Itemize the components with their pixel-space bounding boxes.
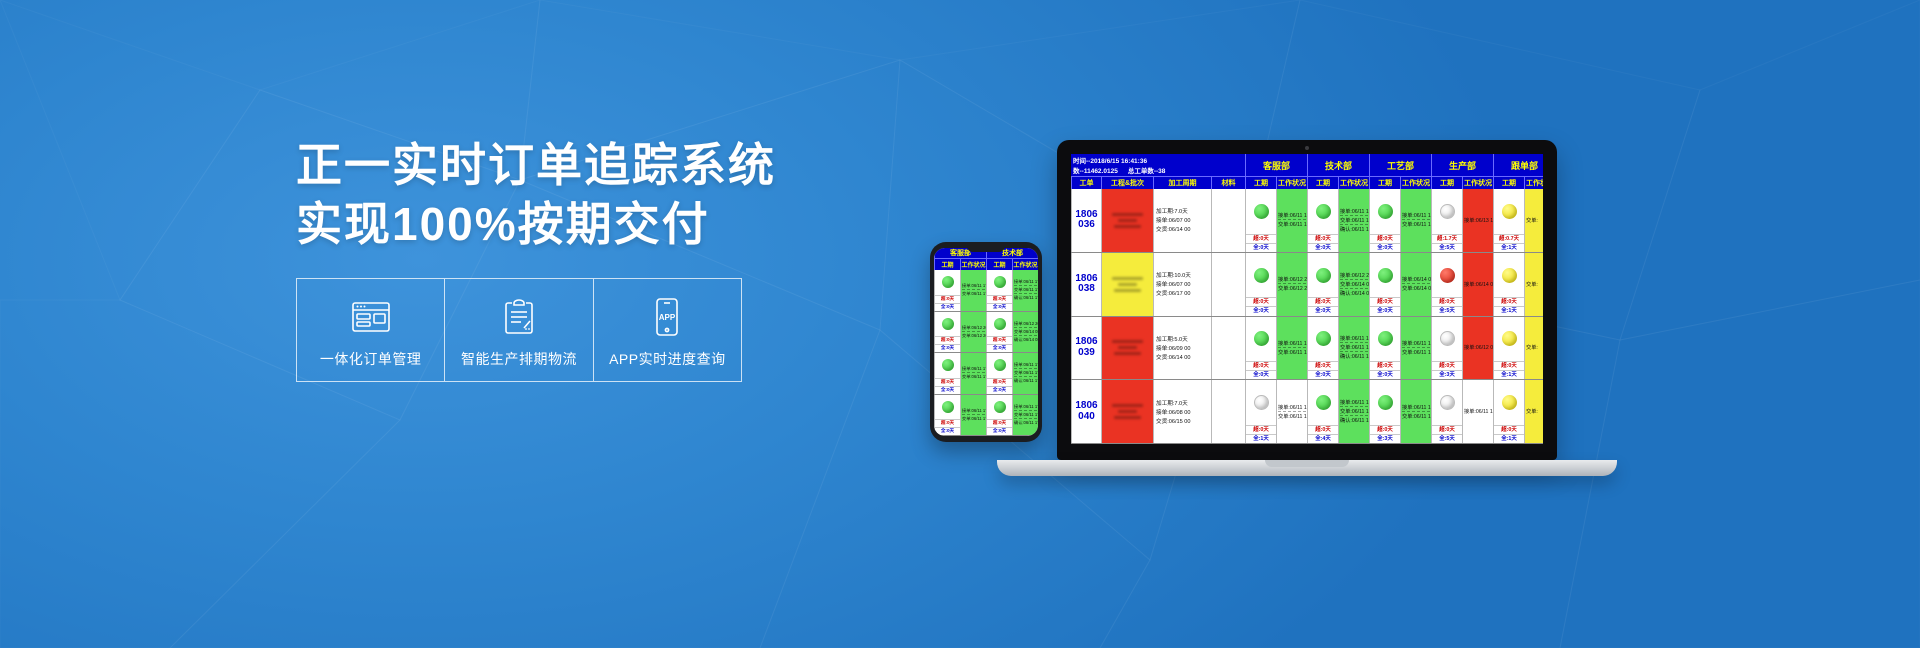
order-number-cell: 1806038: [1071, 253, 1101, 316]
work-status-line-1: 接单:06/11 17: [1340, 399, 1368, 407]
work-status-line-1: 接单:06/11 17: [1278, 340, 1306, 348]
phone-status-cell-1[interactable]: 超:0天全:0天: [934, 270, 960, 311]
remaining-days-label: 全:0天: [1370, 243, 1400, 252]
remaining-days-label: 全:0天: [1308, 306, 1338, 315]
material-cell: [1211, 189, 1245, 252]
remaining-days-label: 全:1天: [1246, 434, 1276, 443]
work-status-line-3: 确认:06/14 08: [1340, 290, 1368, 297]
remaining-days-label: 全:4天: [1308, 434, 1338, 443]
remaining-days-label: 全:0天: [987, 344, 1012, 352]
overdue-days-label: 超:0天: [1370, 234, 1400, 243]
phone-table-row[interactable]: 超:0天全:0天接单:06/11 17交单:06/11 17超:0天全:0天接单…: [934, 270, 1038, 312]
overdue-days-label: 超:0天: [935, 378, 960, 386]
remaining-days-label: 全:1天: [1494, 434, 1524, 443]
overdue-days-label: 超:0.7天: [1494, 234, 1524, 243]
status-cell-工艺部[interactable]: 超:0天全:0天: [1369, 317, 1400, 380]
phone-work-status-cell-1[interactable]: 接单:06/11 17交单:06/11 17: [960, 395, 986, 436]
dashboard-meta: 时间--2018/6/15 16:41:36数--11462.0125总工单数-…: [1071, 154, 1245, 176]
processing-cycle-cell: 加工期:10.0天接单:06/07 00交货:06/17 00: [1153, 253, 1211, 316]
phone-work-status-cell-2[interactable]: 接单:06/11 17交单:06/11 17确认:06/11 17: [1012, 270, 1038, 311]
status-indicator-icon: [994, 318, 1006, 330]
remaining-days-label: 全:3天: [1432, 370, 1462, 379]
processing-cycle-cell: 加工期:5.0天接单:06/09 00交货:06/14 00: [1153, 317, 1211, 380]
order-number-part-2: 038: [1078, 284, 1095, 295]
phone-status-cell-1[interactable]: 超:0天全:0天: [934, 312, 960, 353]
processing-cycle-cell: 加工期:7.0天接单:06/07 00交货:06/14 00: [1153, 189, 1211, 252]
status-cell-生产部[interactable]: 超:0天全:5天: [1431, 380, 1462, 443]
remaining-days-label: 全:0天: [1246, 243, 1276, 252]
cycle-line-3: 交货:06/14 00: [1156, 225, 1209, 233]
work-status-line-2: 交单:06/11 17: [1278, 221, 1306, 228]
work-status-line-2: 交单:06/11 17: [1340, 344, 1368, 352]
project-batch-cell: [1101, 253, 1153, 316]
work-status-line-2: 交单:06/11 17: [1402, 349, 1430, 356]
status-cell-工艺部[interactable]: 超:0天全:3天: [1369, 380, 1400, 443]
department-header-2[interactable]: 技术部: [1307, 154, 1369, 176]
dashboard-rows: 1806036加工期:7.0天接单:06/07 00交货:06/14 00超:0…: [1071, 189, 1543, 444]
overdue-days-label: 超:0天: [1370, 361, 1400, 370]
column-header-工艺部-工作状况[interactable]: 工作状况: [1400, 176, 1431, 189]
status-indicator-icon: [994, 276, 1006, 288]
remaining-days-label: 全:0天: [987, 427, 1012, 435]
phone-status-cell-2[interactable]: 超:0天全:0天: [986, 395, 1012, 436]
phone-status-cell-2[interactable]: 超:0天全:0天: [986, 312, 1012, 353]
work-status-line-2: 交单:06/11 17: [1014, 287, 1037, 294]
overdue-days-label: 超:0天: [1308, 297, 1338, 306]
work-status-line-2: 交单:06/11 17: [962, 374, 985, 380]
status-cell-生产部[interactable]: 超:0天全:3天: [1431, 317, 1462, 380]
status-indicator-icon: [1378, 395, 1393, 410]
overdue-days-label: 超:0天: [1432, 297, 1462, 306]
status-indicator-icon: [994, 359, 1006, 371]
work-status-line-1: 接单:06/11 17: [962, 366, 985, 373]
work-status-line-2: 交单:06/11 17: [1014, 370, 1037, 377]
laptop-screen[interactable]: 时间--2018/6/15 16:41:36数--11462.0125总工单数-…: [1071, 154, 1543, 444]
work-status-line-1: 交单:: [1526, 408, 1543, 415]
status-indicator-icon: [1440, 395, 1455, 410]
column-header-客服部-工作状况[interactable]: 工作状况: [1276, 176, 1307, 189]
work-status-line-1: 接单:06/11 17: [1014, 279, 1037, 286]
work-status-cell-跟单部[interactable]: 交单:: [1524, 317, 1543, 380]
laptop-base-notch: [1265, 460, 1349, 467]
work-status-cell-生产部[interactable]: 接单:06/13 10: [1462, 189, 1493, 252]
work-status-line-1: 接单:06/11 17: [1402, 404, 1430, 412]
column-header-跟单部-工作状况[interactable]: 工作状况: [1524, 176, 1543, 189]
overdue-days-label: 超:0天: [935, 295, 960, 303]
status-indicator-icon: [994, 401, 1006, 413]
work-status-line-1: 接单:06/12 20: [962, 325, 985, 332]
status-indicator-icon: [1378, 204, 1393, 219]
column-header-跟单部-工期[interactable]: 工期: [1493, 176, 1524, 189]
work-status-line-2: 交单:06/14 08: [1014, 329, 1037, 336]
cycle-line-2: 接单:06/09 00: [1156, 344, 1209, 352]
column-header-工单[interactable]: 工单: [1071, 176, 1101, 189]
work-status-line-1: 接单:06/14 08: [1464, 281, 1492, 288]
table-row[interactable]: 1806036加工期:7.0天接单:06/07 00交货:06/14 00超:0…: [1071, 189, 1543, 253]
work-status-line-1: 交单:: [1526, 281, 1543, 288]
status-cell-技术部[interactable]: 超:0天全:0天: [1307, 253, 1338, 316]
status-indicator-icon: [1316, 204, 1331, 219]
remaining-days-label: 全:0天: [1308, 243, 1338, 252]
work-status-line-1: 接单:06/12 20: [1340, 272, 1368, 280]
work-status-line-1: 交单:: [1526, 344, 1543, 351]
status-indicator-icon: [1254, 331, 1269, 346]
order-number-cell: 1806036: [1071, 189, 1101, 252]
overdue-days-label: 超:0天: [935, 336, 960, 344]
cycle-line-2: 接单:06/07 00: [1156, 280, 1209, 288]
phone-work-status-cell-1[interactable]: 接单:06/12 20交单:06/12 20: [960, 312, 986, 353]
phone-column-header-row: 工期工作状况工期工作状况: [934, 258, 1038, 270]
cycle-line-2: 接单:06/07 00: [1156, 216, 1209, 224]
work-status-line-1: 接单:06/11 17: [1278, 212, 1306, 220]
status-indicator-icon: [1316, 268, 1331, 283]
work-status-line-1: 接单:06/14 08: [1402, 276, 1430, 284]
status-cell-客服部[interactable]: 超:0天全:1天: [1245, 380, 1276, 443]
work-status-cell-生产部[interactable]: 接单:06/12 09: [1462, 317, 1493, 380]
work-status-cell-跟单部[interactable]: 交单:: [1524, 380, 1543, 443]
status-indicator-icon: [1378, 331, 1393, 346]
status-cell-工艺部[interactable]: 超:0天全:0天: [1369, 253, 1400, 316]
total-orders-label: 总工单数--38: [1128, 165, 1166, 175]
phone-dashboard-rows: 超:0天全:0天接单:06/11 17交单:06/11 17超:0天全:0天接单…: [934, 270, 1038, 436]
overdue-days-label: 超:1.7天: [1432, 234, 1462, 243]
webcam-icon: [1305, 146, 1309, 150]
overdue-days-label: 超:0天: [935, 419, 960, 427]
work-status-line-3: 确认:06/11 17: [1014, 378, 1037, 384]
status-cell-生产部[interactable]: 超:0天全:5天: [1431, 253, 1462, 316]
status-indicator-icon: [942, 276, 954, 288]
column-header-row: 工单工程&批次加工周期材料工期工作状况工期工作状况工期工作状况工期工作状况工期工…: [1071, 176, 1543, 189]
phone-dashboard: 客服部技术部工期工作状况工期工作状况超:0天全:0天接单:06/11 17交单:…: [934, 248, 1038, 436]
status-indicator-icon: [1254, 204, 1269, 219]
department-header-1[interactable]: 客服部: [1245, 154, 1307, 176]
work-status-cell-工艺部[interactable]: 接单:06/11 17交单:06/11 17: [1400, 317, 1431, 380]
status-cell-跟单部[interactable]: 超:0天全:1天: [1493, 317, 1524, 380]
overdue-days-label: 超:0天: [1432, 425, 1462, 434]
redacted-project-text: [1106, 384, 1149, 439]
work-status-line-1: 交单:: [1526, 217, 1543, 224]
work-status-cell-工艺部[interactable]: 接单:06/14 08交单:06/14 08: [1400, 253, 1431, 316]
remaining-days-label: 全:0天: [1246, 370, 1276, 379]
phone-status-cell-2[interactable]: 超:0天全:0天: [986, 353, 1012, 394]
overdue-days-label: 超:0天: [987, 419, 1012, 427]
status-indicator-icon: [1440, 268, 1455, 283]
overdue-days-label: 超:0天: [987, 378, 1012, 386]
laptop-mockup: 时间--2018/6/15 16:41:36数--11462.0125总工单数-…: [1057, 140, 1557, 476]
work-status-cell-客服部[interactable]: 接单:06/11 17交单:06/11 17: [1276, 317, 1307, 380]
work-status-cell-技术部[interactable]: 接单:06/11 17交单:06/11 17确认:06/11 17: [1338, 189, 1369, 252]
department-header-4[interactable]: 生产部: [1431, 154, 1493, 176]
phone-work-status-cell-2[interactable]: 接单:06/11 17交单:06/11 17确认:06/11 17: [1012, 353, 1038, 394]
work-status-line-2: 交单:06/12 20: [1278, 285, 1306, 292]
status-cell-跟单部[interactable]: 超:0.7天全:1天: [1493, 189, 1524, 252]
remaining-days-label: 全:5天: [1432, 243, 1462, 252]
status-cell-技术部[interactable]: 超:0天全:0天: [1307, 317, 1338, 380]
remaining-days-label: 全:0天: [1308, 370, 1338, 379]
status-cell-跟单部[interactable]: 超:0天全:1天: [1493, 253, 1524, 316]
overdue-days-label: 超:0天: [1494, 361, 1524, 370]
work-status-cell-生产部[interactable]: 接单:06/11 17: [1462, 380, 1493, 443]
column-header-生产部-工期[interactable]: 工期: [1431, 176, 1462, 189]
project-batch-cell: [1101, 317, 1153, 380]
work-status-line-1: 接单:06/11 17: [1278, 404, 1306, 412]
phone-work-status-cell-1[interactable]: 接单:06/11 17交单:06/11 17: [960, 353, 986, 394]
work-status-line-2: 交单:06/11 17: [1402, 413, 1430, 420]
material-cell: [1211, 253, 1245, 316]
cycle-line-3: 交货:06/15 00: [1156, 417, 1209, 425]
work-status-line-1: 接单:06/11 17: [1014, 362, 1037, 369]
processing-cycle-cell: 加工期:7.0天接单:06/08 00交货:06/15 00: [1153, 380, 1211, 443]
cycle-line-3: 交货:06/17 00: [1156, 289, 1209, 297]
column-header-材料[interactable]: 材料: [1211, 176, 1245, 189]
remaining-days-label: 全:1天: [1494, 306, 1524, 315]
work-status-line-1: 接单:06/11 17: [1014, 404, 1037, 411]
project-batch-cell: [1101, 189, 1153, 252]
status-indicator-icon: [1378, 268, 1393, 283]
status-indicator-icon: [942, 401, 954, 413]
work-status-cell-技术部[interactable]: 接单:06/12 20交单:06/14 08确认:06/14 08: [1338, 253, 1369, 316]
project-batch-cell: [1101, 380, 1153, 443]
overdue-days-label: 超:0天: [1246, 234, 1276, 243]
overdue-days-label: 超:0天: [1246, 425, 1276, 434]
work-status-line-2: 交单:06/11 17: [1278, 413, 1306, 420]
overdue-days-label: 超:0天: [987, 336, 1012, 344]
phone-table-row[interactable]: 超:0天全:0天接单:06/11 17交单:06/11 17超:0天全:0天接单…: [934, 353, 1038, 395]
redacted-project-text: [1106, 257, 1149, 312]
work-status-line-2: 交单:06/11 17: [1278, 349, 1306, 356]
work-status-line-3: 确认:06/11 17: [1340, 353, 1368, 360]
remaining-days-label: 全:0天: [1370, 370, 1400, 379]
phone-table-row[interactable]: 超:0天全:0天接单:06/11 17交单:06/11 17超:0天全:0天接单…: [934, 395, 1038, 437]
device-mockups: 客服部技术部工期工作状况工期工作状况超:0天全:0天接单:06/11 17交单:…: [0, 0, 1920, 648]
phone-status-cell-1[interactable]: 超:0天全:0天: [934, 395, 960, 436]
cycle-line-2: 接单:06/08 00: [1156, 408, 1209, 416]
status-indicator-icon: [1254, 268, 1269, 283]
cycle-line-3: 交货:06/14 00: [1156, 353, 1209, 361]
work-status-line-3: 确认:06/14 08: [1014, 337, 1037, 343]
phone-column-header-客服部-工期[interactable]: 工期: [934, 258, 960, 270]
column-header-工程&批次[interactable]: 工程&批次: [1101, 176, 1153, 189]
work-status-cell-工艺部[interactable]: 接单:06/11 17交单:06/11 17: [1400, 380, 1431, 443]
work-status-cell-客服部[interactable]: 接单:06/11 17交单:06/11 17: [1276, 380, 1307, 443]
work-status-cell-客服部[interactable]: 接单:06/12 20交单:06/12 20: [1276, 253, 1307, 316]
order-number-cell: 1806040: [1071, 380, 1101, 443]
column-header-工艺部-工期[interactable]: 工期: [1369, 176, 1400, 189]
phone-table-row[interactable]: 超:0天全:0天接单:06/12 20交单:06/12 20超:0天全:0天接单…: [934, 312, 1038, 354]
work-status-line-2: 交单:06/11 17: [1402, 221, 1430, 228]
phone-column-header-技术部-工作状况[interactable]: 工作状况: [1012, 258, 1038, 270]
phone-column-header-技术部-工期[interactable]: 工期: [986, 258, 1012, 270]
phone-notch: [967, 246, 1005, 252]
table-row[interactable]: 1806039加工期:5.0天接单:06/09 00交货:06/14 00超:0…: [1071, 317, 1543, 381]
phone-work-status-cell-1[interactable]: 接单:06/11 17交单:06/11 17: [960, 270, 986, 311]
dashboard-header-strip: 时间--2018/6/15 16:41:36数--11462.0125总工单数-…: [1071, 154, 1543, 176]
status-cell-客服部[interactable]: 超:0天全:0天: [1245, 317, 1276, 380]
remaining-days-label: 全:0天: [987, 303, 1012, 311]
laptop-base: [997, 460, 1617, 476]
material-cell: [1211, 380, 1245, 443]
cycle-line-1: 加工期:5.0天: [1156, 335, 1209, 343]
phone-work-status-cell-2[interactable]: 接单:06/12 20交单:06/14 08确认:06/14 08: [1012, 312, 1038, 353]
order-tracking-dashboard: 时间--2018/6/15 16:41:36数--11462.0125总工单数-…: [1071, 154, 1543, 444]
overdue-days-label: 超:0天: [1308, 425, 1338, 434]
status-indicator-icon: [1440, 331, 1455, 346]
remaining-days-label: 全:5天: [1432, 434, 1462, 443]
status-indicator-icon: [942, 359, 954, 371]
work-status-line-2: 交单:06/11 17: [962, 416, 985, 422]
work-status-line-2: 交单:06/12 20: [962, 333, 985, 339]
work-status-line-2: 交单:06/11 17: [962, 291, 985, 297]
status-indicator-icon: [1440, 204, 1455, 219]
overdue-days-label: 超:0天: [1494, 425, 1524, 434]
work-status-line-1: 接单:06/11 17: [962, 283, 985, 290]
status-cell-客服部[interactable]: 超:0天全:0天: [1245, 189, 1276, 252]
work-status-line-1: 接单:06/13 10: [1464, 217, 1492, 224]
phone-status-cell-2[interactable]: 超:0天全:0天: [986, 270, 1012, 311]
status-indicator-icon: [1502, 395, 1517, 410]
overdue-days-label: 超:0天: [987, 295, 1012, 303]
work-status-line-1: 接单:06/12 20: [1014, 321, 1037, 328]
work-status-line-2: 交单:06/14 08: [1402, 285, 1430, 292]
status-indicator-icon: [1502, 268, 1517, 283]
order-number-cell: 1806039: [1071, 317, 1101, 380]
remaining-days-label: 全:1天: [1494, 370, 1524, 379]
serial-label: 数--11462.0125: [1073, 165, 1118, 175]
work-status-line-2: 交单:06/11 17: [1340, 408, 1368, 416]
table-row[interactable]: 1806040加工期:7.0天接单:06/08 00交货:06/15 00超:0…: [1071, 380, 1543, 444]
cycle-line-1: 加工期:7.0天: [1156, 207, 1209, 215]
table-row[interactable]: 1806038加工期:10.0天接单:06/07 00交货:06/17 00超:…: [1071, 253, 1543, 317]
work-status-cell-技术部[interactable]: 接单:06/11 17交单:06/11 17确认:06/11 17: [1338, 380, 1369, 443]
status-indicator-icon: [1254, 395, 1269, 410]
work-status-line-1: 接单:06/11 17: [962, 408, 985, 415]
work-status-line-1: 接单:06/11 17: [1402, 340, 1430, 348]
overdue-days-label: 超:0天: [1494, 297, 1524, 306]
column-header-技术部-工作状况[interactable]: 工作状况: [1338, 176, 1369, 189]
work-status-cell-生产部[interactable]: 接单:06/14 08: [1462, 253, 1493, 316]
work-status-line-1: 接单:06/12 09: [1464, 344, 1492, 351]
order-number-part-2: 040: [1078, 412, 1095, 423]
work-status-line-2: 交单:06/11 17: [1014, 412, 1037, 419]
remaining-days-label: 全:1天: [1494, 243, 1524, 252]
overdue-days-label: 超:0天: [1246, 361, 1276, 370]
remaining-days-label: 全:0天: [1370, 306, 1400, 315]
laptop-lid: 时间--2018/6/15 16:41:36数--11462.0125总工单数-…: [1057, 140, 1557, 460]
phone-status-cell-1[interactable]: 超:0天全:0天: [934, 353, 960, 394]
work-status-cell-客服部[interactable]: 接单:06/11 17交单:06/11 17: [1276, 189, 1307, 252]
status-indicator-icon: [1316, 331, 1331, 346]
remaining-days-label: 全:0天: [935, 344, 960, 352]
redacted-project-text: [1106, 321, 1149, 376]
clock-label: 时间--2018/6/15 16:41:36: [1073, 155, 1147, 165]
column-header-生产部-工作状况[interactable]: 工作状况: [1462, 176, 1493, 189]
redacted-project-text: [1106, 193, 1149, 248]
remaining-days-label: 全:5天: [1432, 306, 1462, 315]
cycle-line-1: 加工期:7.0天: [1156, 399, 1209, 407]
work-status-line-3: 确认:06/11 17: [1340, 226, 1368, 233]
work-status-line-3: 确认:06/11 17: [1340, 417, 1368, 424]
work-status-cell-工艺部[interactable]: 接单:06/11 17交单:06/11 17: [1400, 189, 1431, 252]
phone-mockup: 客服部技术部工期工作状况工期工作状况超:0天全:0天接单:06/11 17交单:…: [930, 242, 1042, 442]
order-number-part-2: 036: [1078, 220, 1095, 231]
remaining-days-label: 全:0天: [935, 303, 960, 311]
cycle-line-1: 加工期:10.0天: [1156, 271, 1209, 279]
status-cell-技术部[interactable]: 超:0天全:4天: [1307, 380, 1338, 443]
remaining-days-label: 全:3天: [1370, 434, 1400, 443]
phone-work-status-cell-2[interactable]: 接单:06/11 17交单:06/11 17确认:06/11 17: [1012, 395, 1038, 436]
phone-body: 客服部技术部工期工作状况工期工作状况超:0天全:0天接单:06/11 17交单:…: [930, 242, 1042, 442]
overdue-days-label: 超:0天: [1308, 361, 1338, 370]
remaining-days-label: 全:0天: [935, 427, 960, 435]
department-header-3[interactable]: 工艺部: [1369, 154, 1431, 176]
work-status-cell-跟单部[interactable]: 交单:: [1524, 189, 1543, 252]
status-indicator-icon: [1316, 395, 1331, 410]
phone-column-header-客服部-工作状况[interactable]: 工作状况: [960, 258, 986, 270]
material-cell: [1211, 317, 1245, 380]
remaining-days-label: 全:0天: [1246, 306, 1276, 315]
remaining-days-label: 全:0天: [987, 386, 1012, 394]
column-header-加工周期[interactable]: 加工周期: [1153, 176, 1211, 189]
status-cell-客服部[interactable]: 超:0天全:0天: [1245, 253, 1276, 316]
overdue-days-label: 超:0天: [1432, 361, 1462, 370]
overdue-days-label: 超:0天: [1246, 297, 1276, 306]
overdue-days-label: 超:0天: [1308, 234, 1338, 243]
status-indicator-icon: [1502, 204, 1517, 219]
status-indicator-icon: [942, 318, 954, 330]
order-number-part-2: 039: [1078, 348, 1095, 359]
column-header-技术部-工期[interactable]: 工期: [1307, 176, 1338, 189]
status-cell-工艺部[interactable]: 超:0天全:0天: [1369, 189, 1400, 252]
status-cell-技术部[interactable]: 超:0天全:0天: [1307, 189, 1338, 252]
work-status-line-1: 接单:06/11 17: [1464, 408, 1492, 415]
phone-screen[interactable]: 客服部技术部工期工作状况工期工作状况超:0天全:0天接单:06/11 17交单:…: [934, 248, 1038, 436]
work-status-cell-技术部[interactable]: 接单:06/11 17交单:06/11 17确认:06/11 17: [1338, 317, 1369, 380]
work-status-line-2: 交单:06/11 17: [1340, 217, 1368, 225]
remaining-days-label: 全:0天: [935, 386, 960, 394]
status-cell-生产部[interactable]: 超:1.7天全:5天: [1431, 189, 1462, 252]
work-status-line-2: 交单:06/14 08: [1340, 281, 1368, 289]
department-header-5[interactable]: 跟单部: [1493, 154, 1543, 176]
work-status-line-3: 确认:06/11 17: [1014, 420, 1037, 426]
status-cell-跟单部[interactable]: 超:0天全:1天: [1493, 380, 1524, 443]
overdue-days-label: 超:0天: [1370, 425, 1400, 434]
department-strip: 客服部技术部工艺部生产部跟单部: [1245, 154, 1543, 176]
work-status-line-1: 接单:06/12 20: [1278, 276, 1306, 284]
work-status-line-1: 接单:06/11 17: [1340, 208, 1368, 216]
work-status-line-1: 接单:06/11 17: [1402, 212, 1430, 220]
work-status-line-1: 接单:06/11 17: [1340, 335, 1368, 343]
column-header-客服部-工期[interactable]: 工期: [1245, 176, 1276, 189]
overdue-days-label: 超:0天: [1370, 297, 1400, 306]
work-status-cell-跟单部[interactable]: 交单:: [1524, 253, 1543, 316]
work-status-line-3: 确认:06/11 17: [1014, 295, 1037, 301]
status-indicator-icon: [1502, 331, 1517, 346]
